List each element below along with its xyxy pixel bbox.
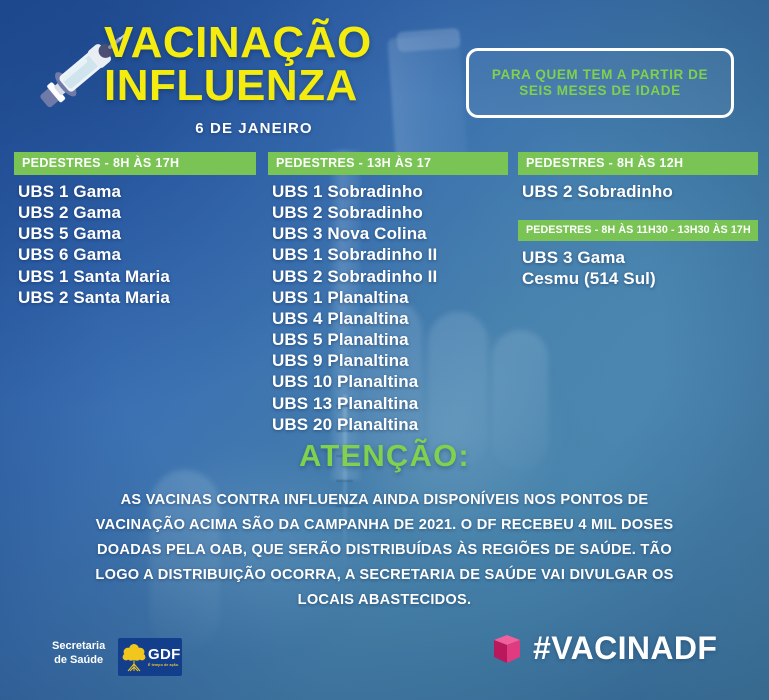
schedule-header-text: PEDESTRES - 8H ÀS 12H	[526, 156, 750, 170]
list-item: UBS 2 Santa Maria	[14, 287, 256, 308]
schedule-column-2: PEDESTRES - 13H ÀS 17UBS 1 SobradinhoUBS…	[268, 152, 508, 435]
hashtag-text: #VACINADF	[533, 630, 717, 667]
attention-block: ATENÇÃO: AS VACINAS CONTRA INFLUENZA AIN…	[0, 438, 769, 613]
list-item: Cesmu (514 Sul)	[518, 268, 758, 289]
list-item: UBS 5 Gama	[14, 223, 256, 244]
list-item: UBS 9 Planaltina	[268, 350, 508, 371]
list-item: UBS 1 Santa Maria	[14, 266, 256, 287]
poster-root: VACINAÇÃO INFLUENZA 6 DE JANEIRO PARA QU…	[0, 0, 769, 700]
hashtag-group: #VACINADF	[492, 630, 717, 667]
gdf-tagline: É tempo de ação.	[148, 663, 181, 667]
list-item: UBS 4 Planaltina	[268, 308, 508, 329]
gdf-wordmark: GDF	[148, 647, 181, 662]
schedule-header-bar: PEDESTRES - 8H ÀS 17H	[14, 152, 256, 175]
schedule-header-text: PEDESTRES - 13H ÀS 17	[276, 156, 500, 170]
secretaria-line-2: de Saúde	[52, 654, 105, 668]
list-item: UBS 1 Sobradinho II	[268, 244, 508, 265]
cube-icon	[492, 633, 522, 665]
gdf-text-group: GDF É tempo de ação.	[148, 647, 181, 668]
list-item: UBS 1 Gama	[14, 181, 256, 202]
list-item: UBS 20 Planaltina	[268, 414, 508, 435]
location-list: UBS 1 SobradinhoUBS 2 SobradinhoUBS 3 No…	[268, 181, 508, 435]
list-item: UBS 2 Sobradinho II	[268, 266, 508, 287]
list-item: UBS 2 Sobradinho	[518, 181, 758, 202]
list-item: UBS 10 Planaltina	[268, 371, 508, 392]
schedule-section: PEDESTRES - 8H ÀS 12HUBS 2 Sobradinho	[518, 152, 758, 202]
campaign-date: 6 DE JANEIRO	[104, 120, 404, 137]
attention-title: ATENÇÃO:	[0, 438, 769, 474]
secretaria-line-1: Secretaria	[52, 640, 105, 654]
title-line-2: INFLUENZA	[104, 65, 404, 108]
list-item: UBS 6 Gama	[14, 244, 256, 265]
location-list: UBS 1 GamaUBS 2 GamaUBS 5 GamaUBS 6 Gama…	[14, 181, 256, 308]
list-item: UBS 3 Nova Colina	[268, 223, 508, 244]
schedule-header-text: PEDESTRES - 8H ÀS 17H	[22, 156, 248, 170]
list-item: UBS 3 Gama	[518, 247, 758, 268]
schedule-header-text: PEDESTRES - 8H ÀS 11H30 - 13H30 ÀS 17H	[526, 224, 750, 236]
schedule-section: PEDESTRES - 13H ÀS 17UBS 1 SobradinhoUBS…	[268, 152, 508, 435]
title-block: VACINAÇÃO INFLUENZA 6 DE JANEIRO	[104, 22, 404, 137]
attention-body: AS VACINAS CONTRA INFLUENZA AINDA DISPON…	[75, 488, 695, 613]
secretaria-saude-logo: Secretaria de Saúde	[52, 640, 105, 668]
list-item: UBS 1 Sobradinho	[268, 181, 508, 202]
schedule-header-bar: PEDESTRES - 8H ÀS 12H	[518, 152, 758, 175]
schedule-header-bar: PEDESTRES - 8H ÀS 11H30 - 13H30 ÀS 17H	[518, 220, 758, 241]
title-line-1: VACINAÇÃO	[104, 22, 404, 65]
schedule-header-bar: PEDESTRES - 13H ÀS 17	[268, 152, 508, 175]
list-item: UBS 2 Sobradinho	[268, 202, 508, 223]
schedule-column-3: PEDESTRES - 8H ÀS 12HUBS 2 SobradinhoPED…	[518, 152, 758, 289]
schedule-section: PEDESTRES - 8H ÀS 11H30 - 13H30 ÀS 17HUB…	[518, 220, 758, 289]
gdf-logo: GDF É tempo de ação.	[118, 638, 182, 676]
location-list: UBS 3 GamaCesmu (514 Sul)	[518, 247, 758, 289]
age-eligibility-badge: PARA QUEM TEM A PARTIR DE SEIS MESES DE …	[466, 48, 734, 118]
tree-icon	[122, 642, 146, 672]
list-item: UBS 2 Gama	[14, 202, 256, 223]
list-item: UBS 13 Planaltina	[268, 393, 508, 414]
schedule-section: PEDESTRES - 8H ÀS 17HUBS 1 GamaUBS 2 Gam…	[14, 152, 256, 308]
age-eligibility-text: PARA QUEM TEM A PARTIR DE SEIS MESES DE …	[469, 67, 731, 100]
schedule-column-1: PEDESTRES - 8H ÀS 17HUBS 1 GamaUBS 2 Gam…	[14, 152, 256, 308]
list-item: UBS 5 Planaltina	[268, 329, 508, 350]
list-item: UBS 1 Planaltina	[268, 287, 508, 308]
location-list: UBS 2 Sobradinho	[518, 181, 758, 202]
